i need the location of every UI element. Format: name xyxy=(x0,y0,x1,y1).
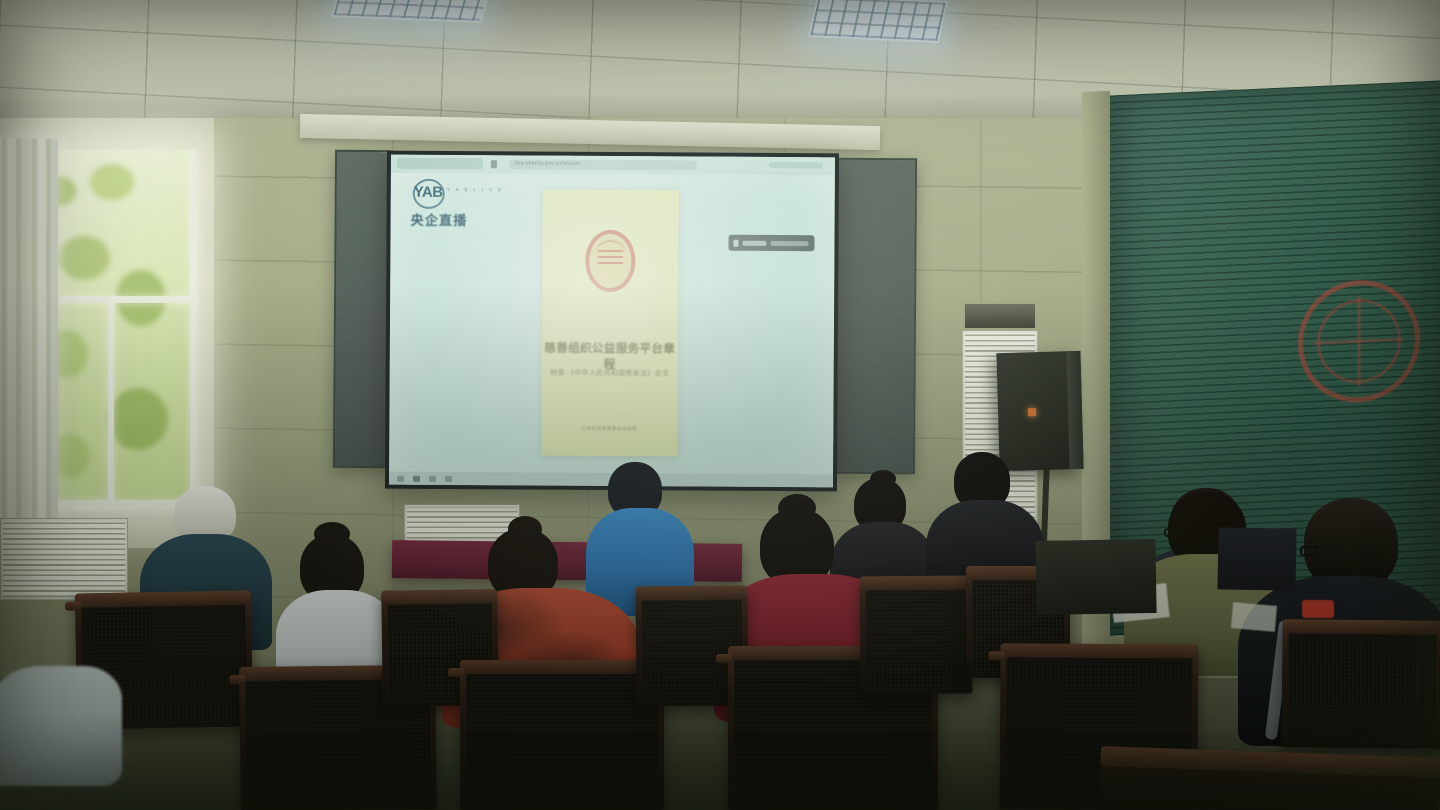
slide-document-page: 慈善组织公益服务平台章程 附录:《中华人民共和国慈善法》全文 江苏省某某慈善总会… xyxy=(541,190,679,457)
wall-speaker xyxy=(996,351,1083,471)
chair-arm xyxy=(988,651,1004,660)
vent-slats xyxy=(3,521,125,597)
blackboard-left xyxy=(333,150,391,468)
glasses-icon xyxy=(1164,528,1180,537)
badge-line-1 xyxy=(742,240,766,245)
taskbar-icon[interactable] xyxy=(429,475,436,481)
taskbar-icon[interactable] xyxy=(413,475,420,481)
room-scene: live.charity.gov.cn/lesson YAB Y A B L I… xyxy=(0,0,1440,810)
badge-line-2 xyxy=(770,240,808,245)
equipment-case xyxy=(1035,539,1156,615)
hvac-vent-left xyxy=(0,518,128,600)
speaker-led-indicator xyxy=(1028,408,1036,416)
window-curtain xyxy=(0,138,58,538)
blackboard-right xyxy=(835,158,917,475)
chair-front-right[interactable] xyxy=(1099,746,1440,810)
browser-url-text: live.charity.gov.cn/lesson xyxy=(515,160,580,166)
chair-arm xyxy=(716,654,732,663)
ceiling-light-right xyxy=(808,0,948,43)
window-frame-outer-right xyxy=(190,150,196,506)
equipment-case xyxy=(1217,527,1296,590)
paper-sheet xyxy=(1231,602,1277,632)
taskbar-icon[interactable] xyxy=(445,475,452,481)
taskbar-icon[interactable] xyxy=(397,475,404,481)
chair-arm xyxy=(448,668,464,677)
attendee-hair-bun xyxy=(870,470,896,488)
live-status-badge[interactable] xyxy=(728,235,814,252)
chair-mesh xyxy=(1287,633,1436,744)
projection-screen-frame: live.charity.gov.cn/lesson YAB Y A B L I… xyxy=(385,151,839,492)
chair-top-rail xyxy=(859,576,971,590)
attendee-hair-bun xyxy=(508,516,542,542)
wall-recess-box xyxy=(963,302,1037,330)
seal-gate-glyph xyxy=(597,250,623,270)
browser-chrome: live.charity.gov.cn/lesson xyxy=(391,155,835,176)
projection-screen[interactable]: live.charity.gov.cn/lesson YAB Y A B L I… xyxy=(389,155,835,488)
light-diffuser-grid xyxy=(333,0,488,21)
yab-logo-text: YAB xyxy=(414,184,443,201)
yab-logo: YAB Y A B L I V E xyxy=(411,177,457,211)
draped-cloth xyxy=(0,666,122,786)
live-dot-icon xyxy=(733,239,738,246)
chair-mesh xyxy=(866,590,967,690)
chair-top-rail xyxy=(1283,619,1440,634)
browser-toolbar-right[interactable] xyxy=(769,162,823,168)
yab-logo-tagline: Y A B L I V E xyxy=(447,187,504,192)
chair-arm xyxy=(229,675,245,684)
attendee-hair-bun xyxy=(314,522,350,546)
window-frame-vertical xyxy=(108,300,114,506)
brand-chinese-label: 央企直播 xyxy=(411,210,468,229)
attendee-hair-bun xyxy=(778,494,816,522)
chair-mesh xyxy=(466,674,658,805)
chair-top-rail xyxy=(1100,746,1440,778)
chair-top-rail xyxy=(635,585,747,599)
slide-subtitle: 附录:《中华人民共和国慈善法》全文 xyxy=(542,368,678,379)
chair-top-rail xyxy=(1000,643,1198,657)
red-object xyxy=(1302,600,1334,618)
glasses-icon xyxy=(1300,546,1318,556)
national-emblem-seal xyxy=(585,230,635,292)
slide-footer: 江苏省某某慈善总会监制 xyxy=(541,426,677,433)
chair-top-rail xyxy=(460,660,664,673)
chair-row1-b[interactable] xyxy=(859,576,972,695)
browser-tab[interactable] xyxy=(397,158,483,170)
chair-top-rail xyxy=(381,589,497,604)
chair-right-b[interactable] xyxy=(1281,619,1440,749)
chair-arm xyxy=(65,601,81,610)
screenshot-root: live.charity.gov.cn/lesson YAB Y A B L I… xyxy=(0,0,1440,810)
chair-row2-b[interactable] xyxy=(460,660,664,810)
light-diffuser-grid xyxy=(810,0,945,41)
page-icon xyxy=(491,160,497,168)
